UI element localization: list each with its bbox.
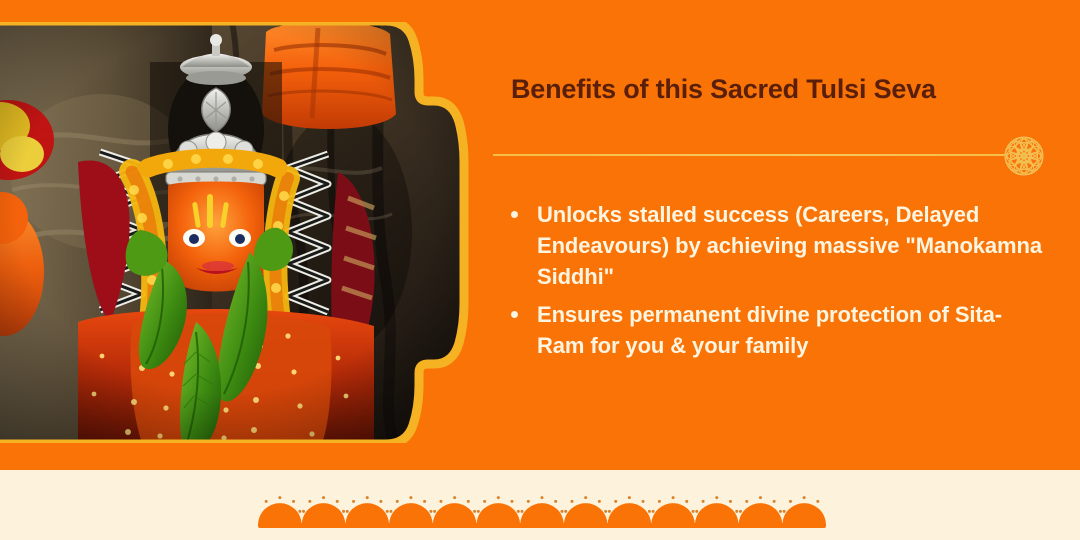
page-title: Benefits of this Sacred Tulsi Seva (493, 62, 1053, 106)
benefit-text: Ensures permanent divine protection of S… (537, 300, 1046, 362)
benefits-panel: Benefits of this Sacred Tulsi Seva (493, 62, 1053, 422)
divider-row (493, 154, 1053, 156)
benefit-text: Unlocks stalled success (Careers, Delaye… (537, 200, 1046, 292)
list-item: Unlocks stalled success (Careers, Delaye… (501, 200, 1046, 292)
scalloped-toran-border (258, 485, 826, 530)
list-item: Ensures permanent divine protection of S… (501, 300, 1046, 362)
bullet-dot-icon (511, 211, 518, 218)
benefits-list: Unlocks stalled success (Careers, Delaye… (501, 200, 1046, 362)
slide-canvas: Benefits of this Sacred Tulsi Seva (0, 0, 1080, 540)
gold-divider-line (493, 154, 1005, 156)
bullet-dot-icon (511, 311, 518, 318)
deity-photo-card (0, 22, 471, 443)
mandala-flower-ornament (996, 128, 1052, 184)
